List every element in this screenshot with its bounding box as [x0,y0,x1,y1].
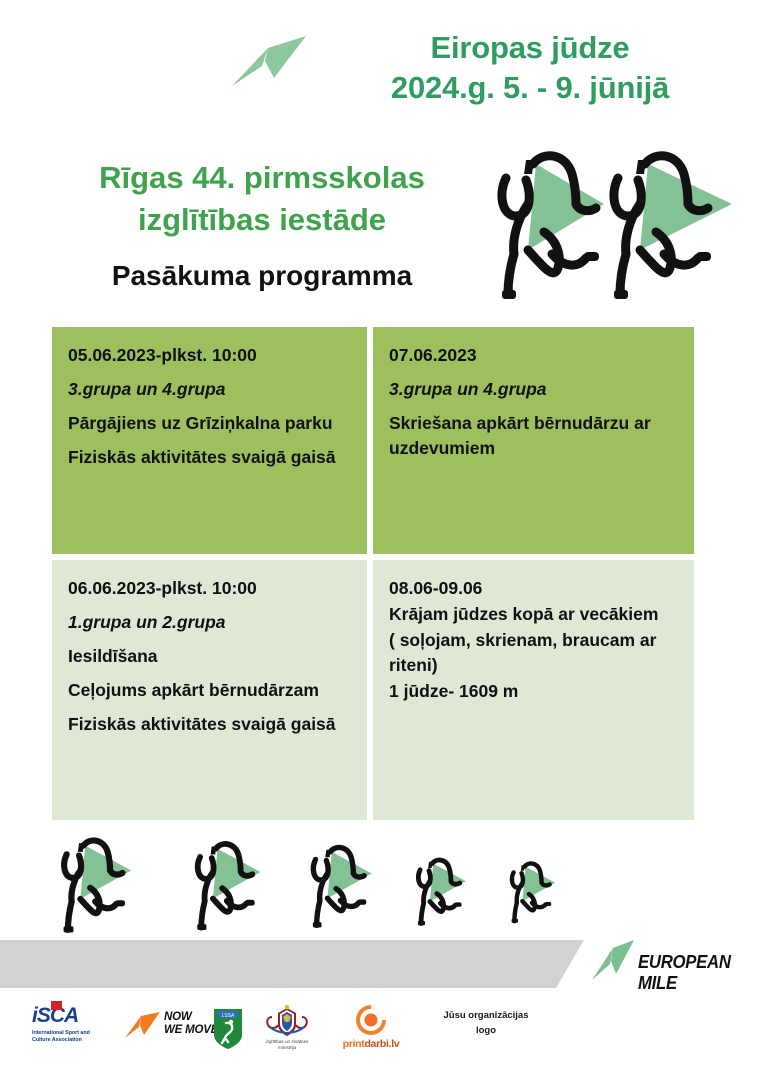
program-cell-05-06: 05.06.2023-plkst. 10:00 3.grupa un 4.gru… [52,327,373,560]
institution-name-line1: Rīgas 44. pirmsskolas [99,160,425,195]
cell-line-groups: 3.grupa un 4.grupa [389,377,674,402]
program-cell-06-06: 06.06.2023-plkst. 10:00 1.grupa un 2.gru… [52,560,373,820]
org-placeholder-line2: logo [396,1023,576,1038]
cell-line-activity: Krājam jūdzes kopā ar vecākiem [389,602,674,627]
cell-line-activity: Ceļojums apkārt bērnudārzam [68,678,347,703]
izm-caption: izglītības un zinātnes ministrija [256,1039,318,1051]
now-we-move-arrow-icon [124,1011,162,1041]
svg-text:LSSA: LSSA [222,1013,235,1019]
institution-name: Rīgas 44. pirmsskolas izglītības iestāde [52,157,472,241]
table-row: 05.06.2023-plkst. 10:00 3.grupa un 4.gru… [52,327,694,560]
cell-line-date: 07.06.2023 [389,343,674,368]
cell-line-activity: Fiziskās aktivitātes svaigā gaisā [68,712,347,737]
now-we-move-line2: WE MOVE [164,1024,218,1037]
program-heading: Pasākuma programma [52,258,472,294]
european-mile-arrow-mark-icon [228,30,310,98]
runner-strip [0,826,768,951]
program-cell-08-09-06: 08.06-09.06 Krājam jūdzes kopā ar vecāki… [373,560,694,820]
printdarbi-word-part1: print [343,1038,365,1050]
cell-line-activity: ( soļojam, skrienam, braucam ar riteni) [389,628,674,678]
printdarbi-wordmark: printdarbi.lv [332,1038,410,1050]
isca-logo: iSCA International Sport and Culture Ass… [32,1005,130,1057]
now-we-move-logo: NOW WE MOVE [124,1009,222,1049]
european-mile-wordmark: EUROPEAN MILE [638,952,759,994]
ground-band [0,940,600,988]
header-title-line2: 2024.g. 5. - 9. jūnijā [320,68,740,108]
lssa-logo: LSSA [212,1007,244,1051]
institution-name-line2: izglītības iestāde [138,202,386,237]
cell-line-groups: 1.grupa un 2.grupa [68,610,347,635]
european-mile-lockup: EUROPEAN MILE [590,938,768,990]
isca-subtitle-line2: Culture Association [32,1037,130,1044]
running-figure-with-sail-icon [604,142,768,302]
now-we-move-wordmark: NOW WE MOVE [164,1011,218,1037]
cell-line-date: 05.06.2023-plkst. 10:00 [68,343,347,368]
table-row: 06.06.2023-plkst. 10:00 1.grupa un 2.gru… [52,560,694,820]
cell-line-activity: Fiziskās aktivitātes svaigā gaisā [68,445,347,470]
isca-dot-icon [51,1001,62,1010]
isca-subtitle-line1: International Sport and [32,1030,130,1037]
cell-line-activity: Pārgājiens uz Grīziņkalna parku [68,411,347,436]
now-we-move-line1: NOW [164,1011,218,1024]
program-cell-07-06: 07.06.2023 3.grupa un 4.grupa Skriešana … [373,327,694,560]
printdarbi-word-part2: darbi.lv [364,1038,399,1050]
org-placeholder-line1: Jūsu organizācijas [396,1008,576,1023]
cell-line-groups: 3.grupa un 4.grupa [68,377,347,402]
izm-logo: izglītības un zinātnes ministrija [256,1005,318,1053]
page-title: Eiropas jūdze 2024.g. 5. - 9. jūnijā [320,28,740,108]
european-mile-arrow-mark-icon [590,938,636,988]
isca-subtitle: International Sport and Culture Associat… [32,1030,130,1044]
cell-line-activity: Skriešana apkārt bērnudārzu ar uzdevumie… [389,411,674,461]
cell-line-activity: Iesildīšana [68,644,347,669]
program-table: 05.06.2023-plkst. 10:00 3.grupa un 4.gru… [52,327,694,820]
cell-line-date: 08.06-09.06 [389,576,674,601]
izm-caption-line2: ministrija [256,1045,318,1051]
poster-page: Eiropas jūdze 2024.g. 5. - 9. jūnijā [0,0,768,1086]
organization-logo-placeholder: Jūsu organizācijas logo [396,1008,576,1038]
footer-logos: iSCA International Sport and Culture Ass… [0,995,768,1086]
cell-line-date: 06.06.2023-plkst. 10:00 [68,576,347,601]
cell-line-distance: 1 jūdze- 1609 m [389,679,674,704]
header-title-line1: Eiropas jūdze [431,30,630,65]
